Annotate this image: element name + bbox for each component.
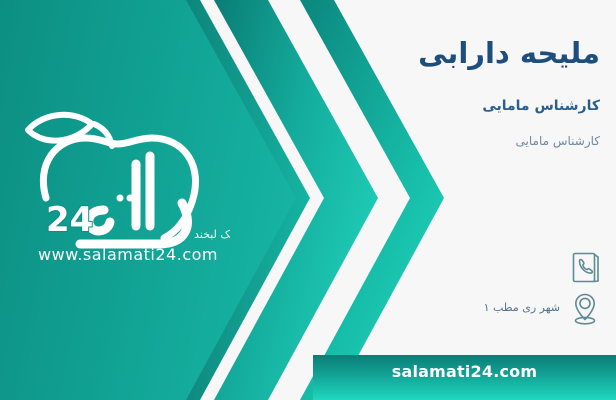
contact-address-text: شهر ری مطب ۱ — [484, 301, 560, 316]
phone-book-icon[interactable] — [568, 250, 602, 286]
bottom-banner: salamati24.com — [313, 355, 616, 400]
specialty-primary: کارشناس مامایی — [482, 98, 600, 114]
contact-row-address[interactable]: شهر ری مطب ۱ — [484, 290, 602, 326]
business-card: 24 به راحتی یک لبخند www.salamati24.com … — [0, 0, 616, 400]
map-pin-icon[interactable] — [568, 290, 602, 326]
specialty-secondary: کارشناس مامایی — [516, 134, 600, 148]
contact-row-phone[interactable] — [560, 250, 602, 286]
page-title: ملیحه دارابی — [418, 36, 600, 70]
banner-website-url[interactable]: salamati24.com — [313, 362, 616, 381]
